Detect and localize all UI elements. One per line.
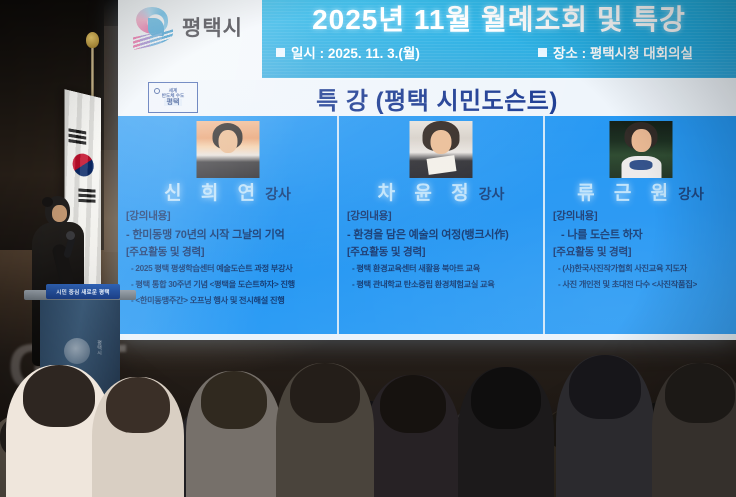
career-line: - 평택 환경교육센터 새활용 북아트 교육 xyxy=(347,262,537,274)
flag-pole-finial xyxy=(86,32,99,48)
audience-person xyxy=(366,375,460,497)
pyeongtaek-city-logo: 평택시 xyxy=(132,2,262,52)
lecture-content-line: - 나를 도슨트 하자 xyxy=(553,226,730,242)
audience-person xyxy=(556,355,654,497)
square-bullet-icon xyxy=(538,48,547,57)
speaker-panel-row: 신 희 연강사 [강의내용] - 한미동맹 70년의 시작 그날의 기억 [주요… xyxy=(118,116,736,334)
podium-banner: 시민 중심 새로운 평택 xyxy=(46,284,120,299)
speaker-name: 차 윤 정 xyxy=(378,183,476,204)
audience-person xyxy=(92,377,184,497)
career-line: - (사)한국사진작가협회 사진교육 지도자 xyxy=(553,262,730,274)
career-line: - 사진 개인전 및 초대전 다수 <사진작품집> xyxy=(553,278,730,290)
lecture-content-label: [강의내용] xyxy=(347,208,537,223)
lecture-content-line: - 환경을 담은 예술의 여정(뱅크시作) xyxy=(347,226,537,242)
speaker-panel: 류 근 원강사 [강의내용] - 나를 도슨트 하자 [주요활동 및 경력] -… xyxy=(543,116,736,334)
projection-screen: 평택시 2025년 11월 월례조회 및 특강 일시 : 2025. 11. 3… xyxy=(118,0,736,340)
speaker-panel: 차 윤 정강사 [강의내용] - 환경을 담은 예술의 여정(뱅크시作) [주요… xyxy=(337,116,543,334)
city-logo-label: 평택시 xyxy=(182,12,243,42)
speaker-role: 강사 xyxy=(479,186,505,202)
speaker-name-row: 차 윤 정강사 xyxy=(339,178,543,205)
slide-header-banner: 2025년 11월 월례조회 및 특강 일시 : 2025. 11. 3.(월)… xyxy=(262,0,736,78)
audience-person xyxy=(186,371,282,497)
portrait-photo-1-icon xyxy=(196,121,259,178)
lecture-content-label: [강의내용] xyxy=(553,208,730,223)
badge-line-3: 평택 xyxy=(164,99,183,107)
semiconductor-capital-badge-icon: 세계 반도체 수도 평택 xyxy=(148,82,198,113)
photo-frame: G T 평택시 2025년 11월 월례조회 및 특강 일시 : 2025. 1… xyxy=(0,0,736,497)
event-date-label: 일시 : 2025. 11. 3.(월) xyxy=(291,46,420,61)
event-place-label: 장소 : 평택시청 대회의실 xyxy=(553,46,693,61)
career-label: [주요활동 및 경력] xyxy=(347,244,537,259)
career-label: [주요활동 및 경력] xyxy=(553,244,730,259)
career-label: [주요활동 및 경력] xyxy=(126,244,331,259)
audience-silhouettes xyxy=(0,325,736,497)
career-line: - 평택 통합 30주년 기념 <평택을 도슨트하자> 진행 xyxy=(126,278,331,290)
event-date-item: 일시 : 2025. 11. 3.(월) xyxy=(276,42,538,62)
speaker-name: 신 희 연 xyxy=(164,183,262,204)
speaker-name-row: 신 희 연강사 xyxy=(118,178,337,205)
audience-person xyxy=(276,363,374,497)
slide-section-title: 특 강 (평택 시민도슨트) xyxy=(202,81,672,116)
portrait-photo-2-icon xyxy=(410,121,473,178)
square-bullet-icon xyxy=(276,48,285,57)
portrait-photo-3-icon xyxy=(609,121,672,178)
career-line: - 평택 관내학교 탄소중립 환경체험교실 교육 xyxy=(347,278,537,290)
podium-banner-text: 시민 중심 새로운 평택 xyxy=(56,288,109,296)
event-place-item: 장소 : 평택시청 대회의실 xyxy=(538,42,730,62)
career-line: - <한미동맹주간> 오프닝 행사 및 전시해설 진행 xyxy=(126,294,331,306)
speaker-panel: 신 희 연강사 [강의내용] - 한미동맹 70년의 시작 그날의 기억 [주요… xyxy=(118,116,337,334)
speaker-name: 류 근 원 xyxy=(577,183,675,204)
slide-section-row: 세계 반도체 수도 평택 특 강 (평택 시민도슨트) xyxy=(118,80,736,116)
lecture-content-label: [강의내용] xyxy=(126,208,331,223)
audience-person xyxy=(652,363,736,497)
pyeongtaek-city-swirl-logo-icon xyxy=(132,6,176,48)
speaker-role: 강사 xyxy=(678,186,704,202)
slide-title: 2025년 11월 월례조회 및 특강 xyxy=(262,0,736,38)
speaker-role: 강사 xyxy=(265,186,291,202)
audience-person xyxy=(458,367,554,497)
speaker-name-row: 류 근 원강사 xyxy=(545,178,736,205)
lecture-content-line: - 한미동맹 70년의 시작 그날의 기억 xyxy=(126,226,331,242)
career-line: - 2025 평택 평생학습센터 예술도슨트 과정 부강사 xyxy=(126,262,331,274)
slide-header-meta: 일시 : 2025. 11. 3.(월) 장소 : 평택시청 대회의실 xyxy=(276,42,730,62)
